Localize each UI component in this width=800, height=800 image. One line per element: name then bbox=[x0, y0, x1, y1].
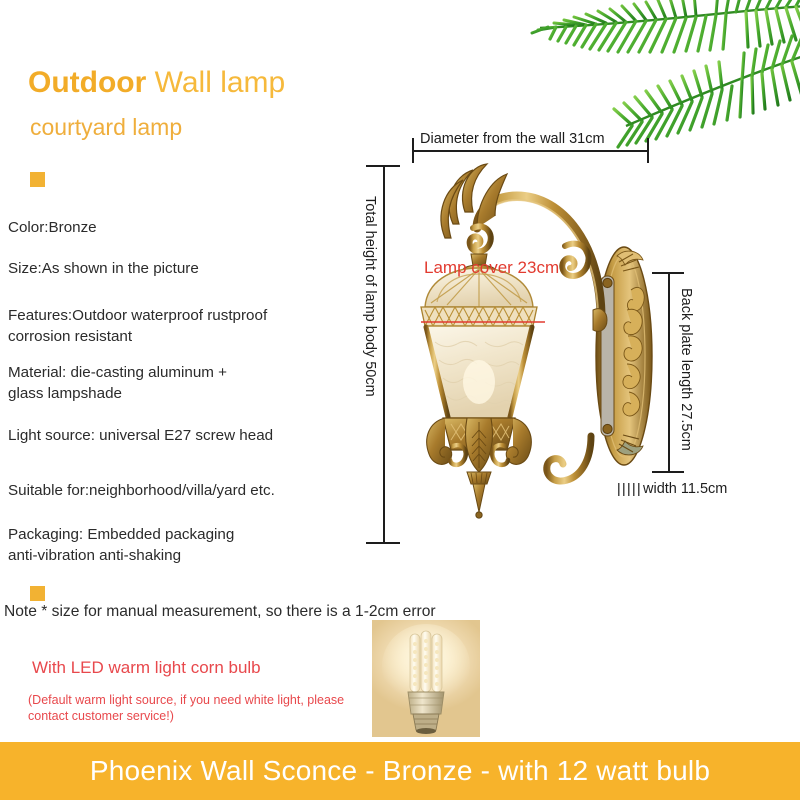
spec-color: Color:Bronze bbox=[8, 217, 97, 238]
product-infographic: Outdoor Wall lamp courtyard lamp Color:B… bbox=[0, 0, 800, 800]
corn-bulb-icon bbox=[372, 620, 480, 737]
dimension-label-back-plate: Back plate length 27.5cm bbox=[678, 288, 694, 451]
dimension-tick-backplate-top bbox=[652, 272, 684, 274]
width-hatch-marks bbox=[618, 483, 640, 496]
title-regular: Wall lamp bbox=[146, 66, 285, 99]
spec-light-source: Light source: universal E27 screw head bbox=[8, 425, 273, 446]
spec-packaging: Packaging: Embedded packaging anti-vibra… bbox=[8, 524, 234, 566]
dimension-label-diameter: Diameter from the wall 31cm bbox=[420, 131, 605, 147]
page-subtitle: courtyard lamp bbox=[30, 113, 182, 141]
dimension-tick-backplate-bottom bbox=[652, 471, 684, 473]
measurement-note: Note * size for manual measurement, so t… bbox=[4, 601, 436, 622]
lamp-back-plate bbox=[596, 247, 652, 465]
spec-material: Material: die-casting aluminum + glass l… bbox=[8, 362, 227, 404]
dimension-label-total-height: Total height of lamp body 50cm bbox=[362, 196, 378, 397]
dimension-line-total-height bbox=[383, 165, 385, 543]
spec-suitable: Suitable for:neighborhood/villa/yard etc… bbox=[8, 480, 275, 501]
title-bold: Outdoor bbox=[28, 66, 146, 99]
lamp-glass-body bbox=[425, 326, 533, 418]
spec-features: Features:Outdoor waterproof rustproof co… bbox=[8, 305, 267, 347]
bottom-banner: Phoenix Wall Sconce - Bronze - with 12 w… bbox=[0, 742, 800, 800]
led-bulb-note: (Default warm light source, if you need … bbox=[28, 692, 378, 724]
dimension-line-back-plate bbox=[668, 272, 670, 472]
spec-size: Size:As shown in the picture bbox=[8, 258, 199, 279]
arm-scroll-ornament bbox=[562, 244, 588, 276]
bullet-square-specs bbox=[30, 172, 45, 187]
led-bulb-heading: With LED warm light corn bulb bbox=[32, 658, 261, 678]
lamp-lattice-band bbox=[421, 307, 545, 326]
bullet-square-note bbox=[30, 586, 45, 601]
dimension-label-lamp-cover: Lamp cover 23cm bbox=[424, 258, 559, 278]
lamp-lower-hook bbox=[547, 436, 591, 481]
lamp-base-ornament bbox=[427, 418, 532, 518]
lamp-top-scroll bbox=[441, 164, 507, 251]
dimension-label-width: width 11.5cm bbox=[643, 481, 727, 497]
page-title: Outdoor Wall lamp bbox=[28, 66, 285, 100]
banner-title: Phoenix Wall Sconce - Bronze - with 12 w… bbox=[0, 742, 800, 800]
led-corn-bulb-photo bbox=[372, 620, 480, 737]
